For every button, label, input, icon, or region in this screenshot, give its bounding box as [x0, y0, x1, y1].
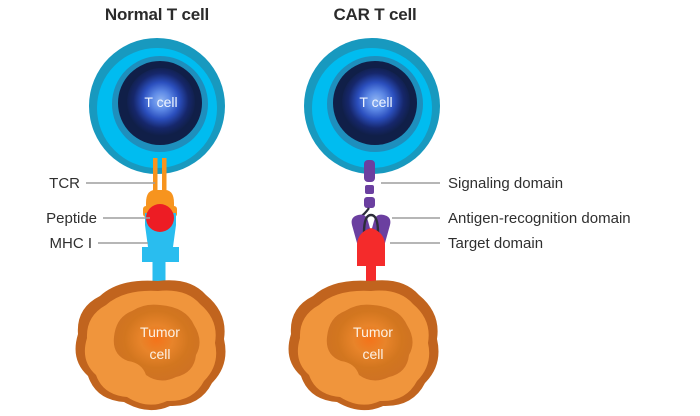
t-cell-label-car: T cell — [359, 94, 392, 110]
tumor-label-left-line2: cell — [149, 346, 170, 362]
signaling-segment-2 — [365, 185, 374, 194]
callout-label-peptide: Peptide — [46, 210, 97, 227]
callout-label-tcr: TCR — [49, 175, 80, 192]
t-cell-car: T cell — [304, 38, 440, 174]
signaling-segment-3 — [364, 197, 375, 208]
diagram-canvas: Normal T cell CAR T cell T cell — [0, 0, 700, 416]
tumor-cell-left: Tumor cell — [76, 280, 226, 410]
callout-label-mhc: MHC I — [50, 235, 93, 252]
callout-label-signaling: Signaling domain — [448, 175, 563, 192]
callout-label-target: Target domain — [448, 235, 543, 252]
t-cell-normal: T cell — [89, 38, 225, 174]
tumor-cell-right: Tumor cell — [289, 280, 439, 410]
car-t-cell-diagram: Normal T cell CAR T cell T cell — [0, 0, 700, 416]
tumor-label-left-line1: Tumor — [140, 324, 180, 340]
panel-title-normal: Normal T cell — [105, 5, 209, 24]
panel-title-car: CAR T cell — [333, 5, 416, 24]
tumor-label-right-line1: Tumor — [353, 324, 393, 340]
t-cell-label-normal: T cell — [144, 94, 177, 110]
callout-label-antigen-recognition: Antigen-recognition domain — [448, 210, 631, 227]
signaling-segment-1 — [364, 160, 375, 182]
tumor-label-right-line2: cell — [362, 346, 383, 362]
peptide-antigen — [146, 204, 174, 232]
